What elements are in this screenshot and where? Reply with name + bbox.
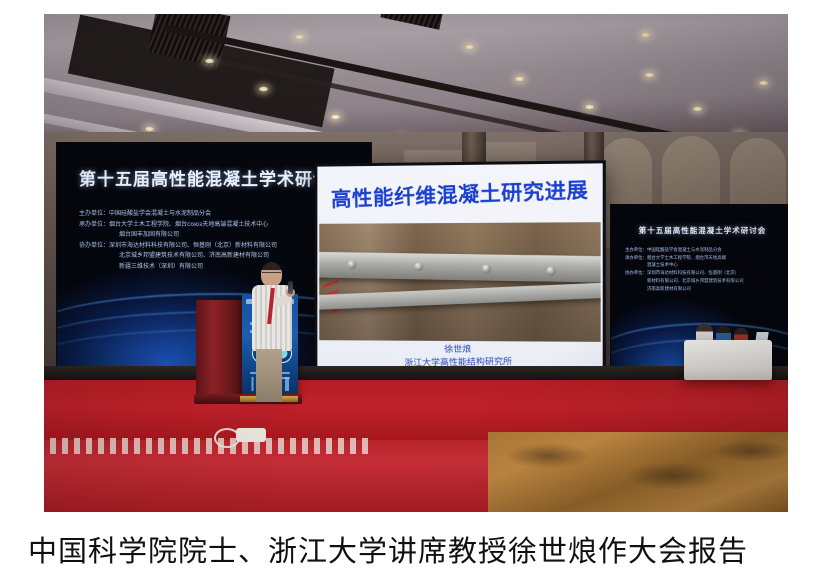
power-plug [236,428,266,442]
downlight-icon [258,86,269,92]
downlight-icon [640,32,651,38]
downlight-icon [464,44,475,50]
patterned-carpet [488,432,788,512]
slide-figure-image [319,222,600,342]
banner-line: 新材料有限公司、北京城乡邦盟建筑技术有限公司 [625,278,744,286]
downlight-icon [692,106,703,112]
banner-line: 新疆三维技术（深圳）有限公司 [79,262,277,273]
right-banner-lines: 主办单位：中国硅酸盐学会混凝土与水泥制品分会 承办单位：烟台大学土木工程学院、烟… [625,247,744,293]
bolt-icon [546,266,555,275]
bolt-icon [414,262,423,271]
banner-line: 承办单位：烟台大学土木工程学院、烟台市天地高端 [625,255,744,263]
banner-line: 济南高新建材有限公司 [625,286,744,294]
downlight-icon [514,76,525,82]
downlight-icon [330,114,341,120]
microphone-icon [288,281,293,294]
downlight-icon [584,104,595,110]
figure-caption: 中国科学院院士、浙江大学讲席教授徐世烺作大会报告 [28,528,788,570]
slide-specimen-beam [319,251,600,282]
banner-line: 烟台国丰加固有限公司 [79,230,277,241]
conference-photo: 第十五届高性能混凝土学术研讨会 主办单位：中国硅酸盐学会混凝土与水泥制品分会 承… [44,14,788,512]
right-banner-title: 第十五届高性能混凝土学术研讨会 [611,225,788,236]
speaker-trousers [256,349,282,402]
left-banner-lines: 主办单位：中国硅酸盐学会混凝土与水泥制品分会 承办单位：烟台大学土木工程学院、烟… [79,209,277,272]
downlight-icon [204,58,215,64]
banner-line: 承办单位：烟台大学土木工程学院、烟台союз天地高端混凝土技术中心 [79,220,277,231]
av-crew-table [684,340,772,380]
floor-cable [44,438,374,454]
downlight-icon [294,34,305,40]
slide-title: 高性能纤维混凝土研究进展 [317,173,602,213]
downlight-icon [644,72,655,78]
banner-line: 主办单位：中国硅酸盐学会混凝土与水泥制品分会 [79,209,277,220]
podium-body [196,300,244,398]
banner-line: 协办单位：深圳市海达材料科技有限公司、恒基刚（北京） [625,270,744,278]
banner-line: 北京城乡邦盟建筑技术有限公司、济南高新建材有限公司 [79,251,277,262]
presentation-slide: 高性能纤维混凝土研究进展 徐世烺 浙江大学高性能结构研究所 2024年8月17日… [317,163,602,398]
bolt-icon [347,260,356,269]
slide-specimen-beam-lower [319,282,600,310]
banner-line: 混凝土技术中心 [625,262,744,270]
banner-line: 协办单位：深圳市海达材料科技有限公司、恒基刚（北京）新材料有限公司 [79,241,277,252]
glasses-icon [262,272,281,277]
page-root: 第十五届高性能混凝土学术研讨会 主办单位：中国硅酸盐学会混凝土与水泥制品分会 承… [0,0,817,577]
bolt-icon [482,264,491,273]
ceiling-vent-grille-2 [380,14,447,30]
downlight-icon [758,80,769,86]
speaker-figure [250,262,298,402]
banner-line: 主办单位：中国硅酸盐学会混凝土与水泥制品分会 [625,247,744,255]
